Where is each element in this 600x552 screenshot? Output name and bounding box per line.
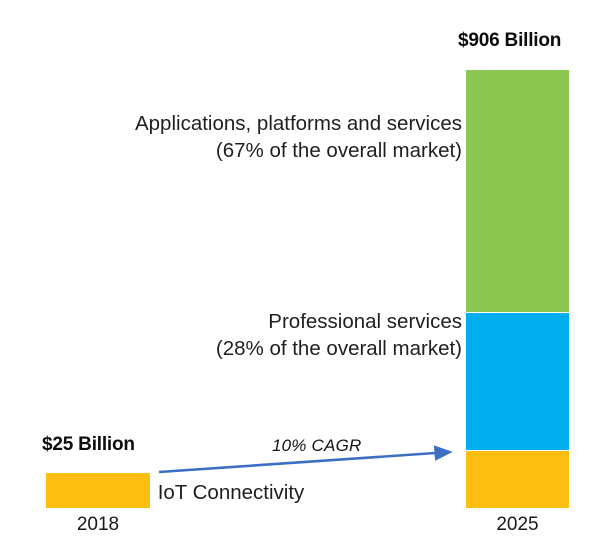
total-value-label-2025: $906 Billion [458,30,561,52]
segment-label-professional-line2: (28% of the overall market) [216,335,462,362]
chart-canvas: $906 Billion $25 Billion Applications, p… [0,0,600,552]
bar-segment-applications [466,70,569,312]
total-value-label-2018: $25 Billion [42,434,135,456]
cagr-annotation-label: 10% CAGR [272,436,361,456]
category-label-2025: 2025 [466,514,569,536]
segment-label-iot-connectivity: IoT Connectivity [0,479,462,506]
bar-segment-professional-services [466,313,569,450]
category-label-2018: 2018 [46,514,150,536]
segment-label-professional-line1: Professional services [268,310,462,333]
segment-label-professional-services: Professional services (28% of the overal… [216,308,462,362]
segment-label-applications-line2: (67% of the overall market) [135,137,462,164]
segment-label-applications: Applications, platforms and services (67… [135,110,462,164]
segment-label-applications-line1: Applications, platforms and services [135,112,462,135]
bar-segment-iot-connectivity [466,451,569,508]
